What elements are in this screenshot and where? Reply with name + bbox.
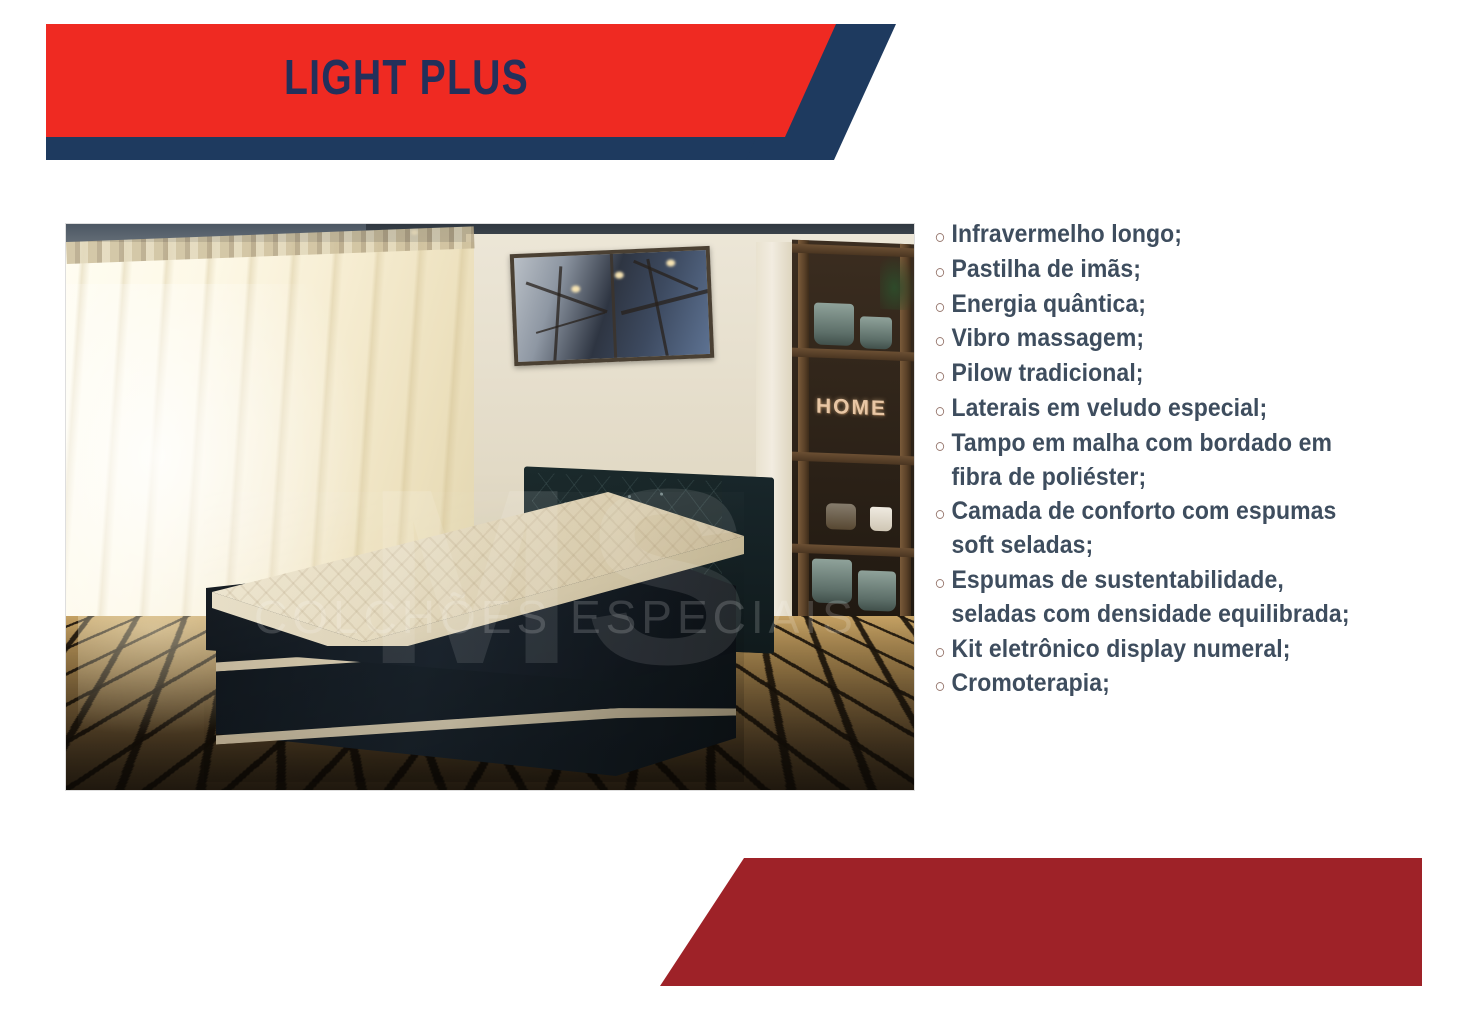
feature-item: Espumas de sustentabilidade, seladas com… bbox=[934, 564, 1366, 632]
feature-item: Vibro massagem; bbox=[934, 322, 1366, 356]
shelf-pot bbox=[814, 303, 854, 347]
art-highlight bbox=[571, 285, 580, 292]
bedroom-scene: HOME bbox=[66, 224, 914, 790]
art-branch bbox=[553, 266, 562, 362]
art-branch bbox=[621, 288, 711, 315]
feature-item: Laterais em veludo especial; bbox=[934, 392, 1366, 426]
tuft-button bbox=[660, 492, 663, 495]
shelf-leg bbox=[798, 240, 809, 660]
feature-item: Cromoterapia; bbox=[934, 667, 1366, 701]
slide-canvas: LIGHT PLUS bbox=[0, 0, 1462, 1024]
shelf-pot bbox=[860, 316, 892, 349]
shelf-board bbox=[792, 544, 914, 558]
footer-accent-bar bbox=[660, 858, 1422, 986]
art-highlight bbox=[666, 259, 675, 266]
ladder-shelf: HOME bbox=[792, 240, 914, 665]
art-branch bbox=[536, 312, 606, 334]
shelf-pot bbox=[858, 570, 896, 611]
feature-item: Camada de conforto com espumas soft sela… bbox=[934, 495, 1366, 563]
header-banner: LIGHT PLUS bbox=[46, 24, 886, 162]
shelf-jar bbox=[826, 503, 856, 530]
shelf-plant bbox=[880, 255, 914, 310]
home-letters-decor: HOME bbox=[816, 395, 887, 422]
art-highlight bbox=[615, 271, 624, 278]
shelf-pot bbox=[812, 558, 852, 604]
feature-item: Pilow tradicional; bbox=[934, 357, 1366, 391]
shelf-board bbox=[792, 452, 914, 466]
wall-art-divider bbox=[610, 254, 618, 366]
shelf-board bbox=[792, 348, 914, 362]
feature-item: Pastilha de imãs; bbox=[934, 253, 1366, 287]
feature-item: Tampo em malha com bordado em fibra de p… bbox=[934, 427, 1366, 495]
wall-art-frame bbox=[510, 246, 715, 366]
feature-item: Energia quântica; bbox=[934, 288, 1366, 322]
tuft-button bbox=[628, 495, 631, 498]
feature-item: Kit eletrônico display numeral; bbox=[934, 633, 1366, 667]
feature-list: Infravermelho longo;Pastilha de imãs;Ene… bbox=[934, 218, 1404, 702]
page-title: LIGHT PLUS bbox=[284, 50, 620, 106]
shelf-white-pot bbox=[870, 507, 892, 532]
feature-item: Infravermelho longo; bbox=[934, 218, 1366, 252]
art-branch bbox=[526, 282, 608, 314]
product-photo: HOME bbox=[66, 224, 914, 790]
